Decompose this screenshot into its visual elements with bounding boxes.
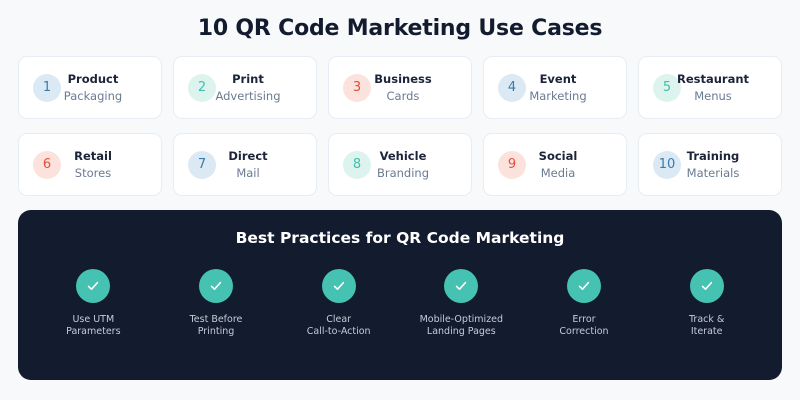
- use-case-title: Training: [687, 149, 740, 163]
- use-case-number-badge: 3: [343, 74, 371, 102]
- check-icon: [690, 269, 724, 303]
- use-case-title: Event: [529, 72, 586, 86]
- use-case-number-badge: 7: [188, 151, 216, 179]
- best-practice-label: Mobile-Optimized Landing Pages: [420, 314, 503, 338]
- best-practice-item[interactable]: Test Before Printing: [155, 269, 278, 338]
- use-case-number-badge: 4: [498, 74, 526, 102]
- best-practice-label: Use UTM Parameters: [66, 314, 120, 338]
- infographic-page: 10 QR Code Marketing Use Cases 1ProductP…: [0, 0, 800, 400]
- use-case-card[interactable]: 10TrainingMaterials: [638, 133, 782, 196]
- use-case-subtitle: Mail: [228, 166, 267, 180]
- best-practice-label: Track & Iterate: [689, 314, 724, 338]
- check-icon: [76, 269, 110, 303]
- use-case-text: ProductPackaging: [58, 72, 122, 102]
- check-icon: [199, 269, 233, 303]
- use-case-number-badge: 1: [33, 74, 61, 102]
- use-case-title: Business: [374, 72, 431, 86]
- use-case-card[interactable]: 3BusinessCards: [328, 56, 472, 119]
- use-case-grid: 1ProductPackaging2PrintAdvertising3Busin…: [18, 56, 782, 196]
- use-case-card[interactable]: 8VehicleBranding: [328, 133, 472, 196]
- use-case-card[interactable]: 7DirectMail: [173, 133, 317, 196]
- use-case-number-badge: 10: [653, 151, 681, 179]
- best-practice-item[interactable]: Clear Call-to-Action: [277, 269, 400, 338]
- use-case-card[interactable]: 9SocialMedia: [483, 133, 627, 196]
- use-case-title: Vehicle: [377, 149, 429, 163]
- use-case-card[interactable]: 4EventMarketing: [483, 56, 627, 119]
- use-case-text: VehicleBranding: [371, 149, 429, 179]
- use-case-text: TrainingMaterials: [681, 149, 740, 179]
- best-practice-item[interactable]: Track & Iterate: [645, 269, 768, 338]
- use-case-title: Retail: [74, 149, 112, 163]
- use-case-subtitle: Cards: [374, 89, 431, 103]
- use-case-subtitle: Packaging: [64, 89, 122, 103]
- best-practice-item[interactable]: Use UTM Parameters: [32, 269, 155, 338]
- use-case-title: Restaurant: [677, 72, 749, 86]
- check-icon: [444, 269, 478, 303]
- use-case-text: PrintAdvertising: [209, 72, 280, 102]
- best-practice-label: Test Before Printing: [190, 314, 243, 338]
- best-practice-item[interactable]: Mobile-Optimized Landing Pages: [400, 269, 523, 338]
- use-case-number-badge: 6: [33, 151, 61, 179]
- use-case-subtitle: Menus: [677, 89, 749, 103]
- use-case-title: Product: [64, 72, 122, 86]
- use-case-card[interactable]: 1ProductPackaging: [18, 56, 162, 119]
- best-practices-row: Use UTM ParametersTest Before PrintingCl…: [32, 269, 768, 338]
- use-case-text: DirectMail: [222, 149, 267, 179]
- use-case-card[interactable]: 6RetailStores: [18, 133, 162, 196]
- use-case-title: Social: [539, 149, 578, 163]
- use-case-title: Direct: [228, 149, 267, 163]
- best-practices-panel: Best Practices for QR Code Marketing Use…: [18, 210, 782, 380]
- best-practice-label: Clear Call-to-Action: [307, 314, 371, 338]
- use-case-title: Print: [215, 72, 280, 86]
- use-case-text: RestaurantMenus: [671, 72, 749, 102]
- best-practices-title: Best Practices for QR Code Marketing: [32, 228, 768, 248]
- use-case-subtitle: Advertising: [215, 89, 280, 103]
- page-title: 10 QR Code Marketing Use Cases: [18, 0, 782, 43]
- use-case-text: RetailStores: [68, 149, 112, 179]
- use-case-number-badge: 8: [343, 151, 371, 179]
- use-case-card[interactable]: 5RestaurantMenus: [638, 56, 782, 119]
- use-case-subtitle: Media: [539, 166, 578, 180]
- use-case-subtitle: Marketing: [529, 89, 586, 103]
- use-case-subtitle: Branding: [377, 166, 429, 180]
- use-case-number-badge: 9: [498, 151, 526, 179]
- check-icon: [322, 269, 356, 303]
- use-case-subtitle: Materials: [687, 166, 740, 180]
- use-case-text: BusinessCards: [368, 72, 431, 102]
- best-practice-item[interactable]: Error Correction: [523, 269, 646, 338]
- check-icon: [567, 269, 601, 303]
- best-practice-label: Error Correction: [559, 314, 608, 338]
- use-case-text: SocialMedia: [533, 149, 578, 179]
- use-case-text: EventMarketing: [523, 72, 586, 102]
- use-case-card[interactable]: 2PrintAdvertising: [173, 56, 317, 119]
- use-case-subtitle: Stores: [74, 166, 112, 180]
